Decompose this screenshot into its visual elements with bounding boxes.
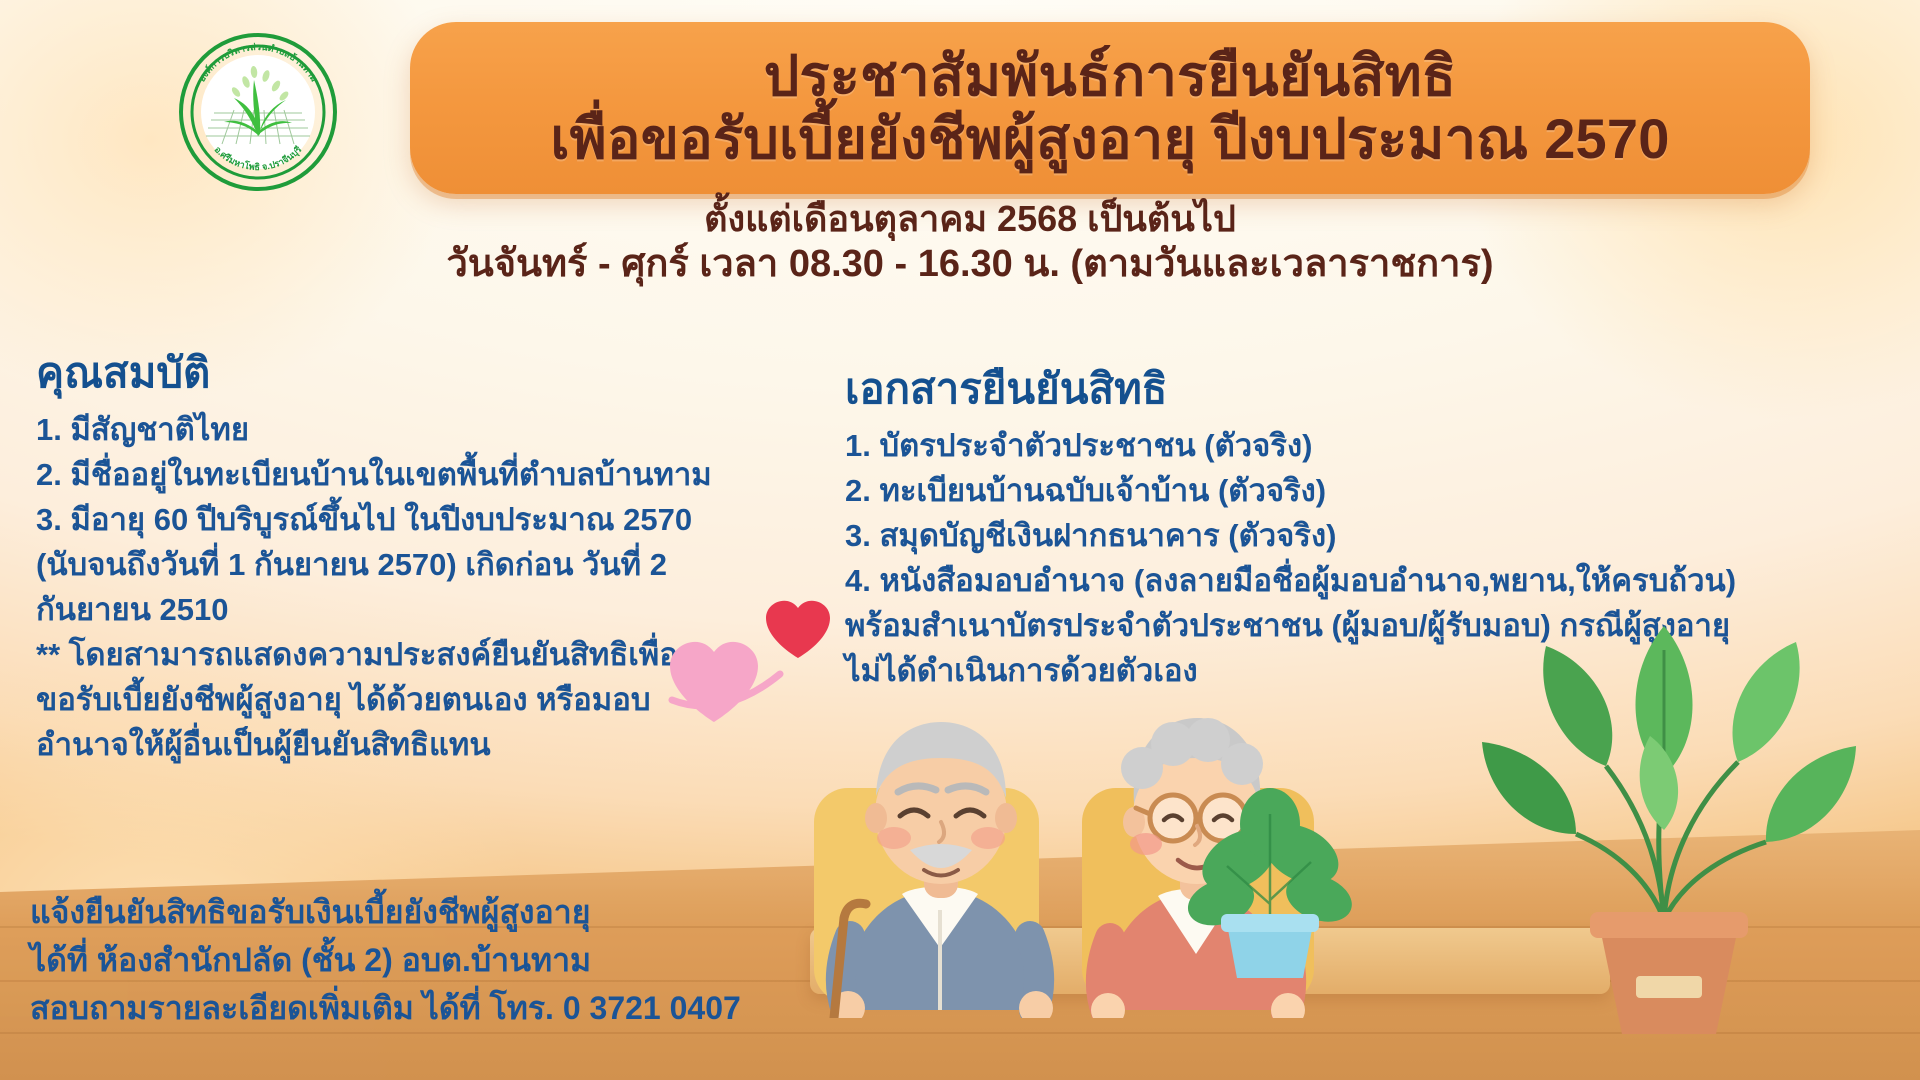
qualifications-heading: คุณสมบัติ <box>36 348 826 398</box>
potted-plant-illustration <box>1175 774 1365 984</box>
poster-canvas: องค์การบริหารส่วนตำบลบ้านทาม อ.ศรีมหาโพธ… <box>0 0 1920 1080</box>
qualification-item: 3. มีอายุ 60 ปีบริบูรณ์ขึ้นไป ในปีงบประม… <box>36 498 826 543</box>
organization-logo: องค์การบริหารส่วนตำบลบ้านทาม อ.ศรีมหาโพธ… <box>178 32 338 192</box>
contact-phone-line: สอบถามรายละเอียดเพิ่มเติม ได้ที่ โทร. 0 … <box>30 984 930 1032</box>
document-item: 3. สมุดบัญชีเงินฝากธนาคาร (ตัวจริง) <box>845 514 1890 559</box>
contact-line: ได้ที่ ห้องสำนักปลัด (ชั้น 2) อบต.บ้านทา… <box>30 936 930 984</box>
documents-heading: เอกสารยืนยันสิทธิ <box>845 364 1890 414</box>
subtitle-block: ตั้งแต่เดือนตุลาคม 2568 เป็นต้นไป วันจัน… <box>300 196 1640 289</box>
header-title-line-2: เพื่อขอรับเบี้ยยังชีพผู้สูงอายุ ปีงบประม… <box>550 108 1669 171</box>
header-title-line-1: ประชาสัมพันธ์การยืนยันสิทธิ <box>764 45 1457 108</box>
subtitle-line-start-date: ตั้งแต่เดือนตุลาคม 2568 เป็นต้นไป <box>300 196 1640 241</box>
contact-line: แจ้งยืนยันสิทธิขอรับเงินเบี้ยยังชีพผู้สู… <box>30 888 930 936</box>
document-item: 2. ทะเบียนบ้านฉบับเจ้าบ้าน (ตัวจริง) <box>845 469 1890 514</box>
contact-block: แจ้งยืนยันสิทธิขอรับเงินเบี้ยยังชีพผู้สู… <box>30 888 930 1032</box>
qualification-item: 2. มีชื่ออยู่ในทะเบียนบ้านในเขตพื้นที่ตำ… <box>36 453 826 498</box>
qualification-item: 1. มีสัญชาติไทย <box>36 408 826 453</box>
document-item: 1. บัตรประจำตัวประชาชน (ตัวจริง) <box>845 424 1890 469</box>
monstera-plant-illustration <box>1450 590 1880 1040</box>
header-banner: ประชาสัมพันธ์การยืนยันสิทธิ เพื่อขอรับเบ… <box>410 22 1810 194</box>
subtitle-line-office-hours: วันจันทร์ - ศุกร์ เวลา 08.30 - 16.30 น. … <box>300 241 1640 289</box>
